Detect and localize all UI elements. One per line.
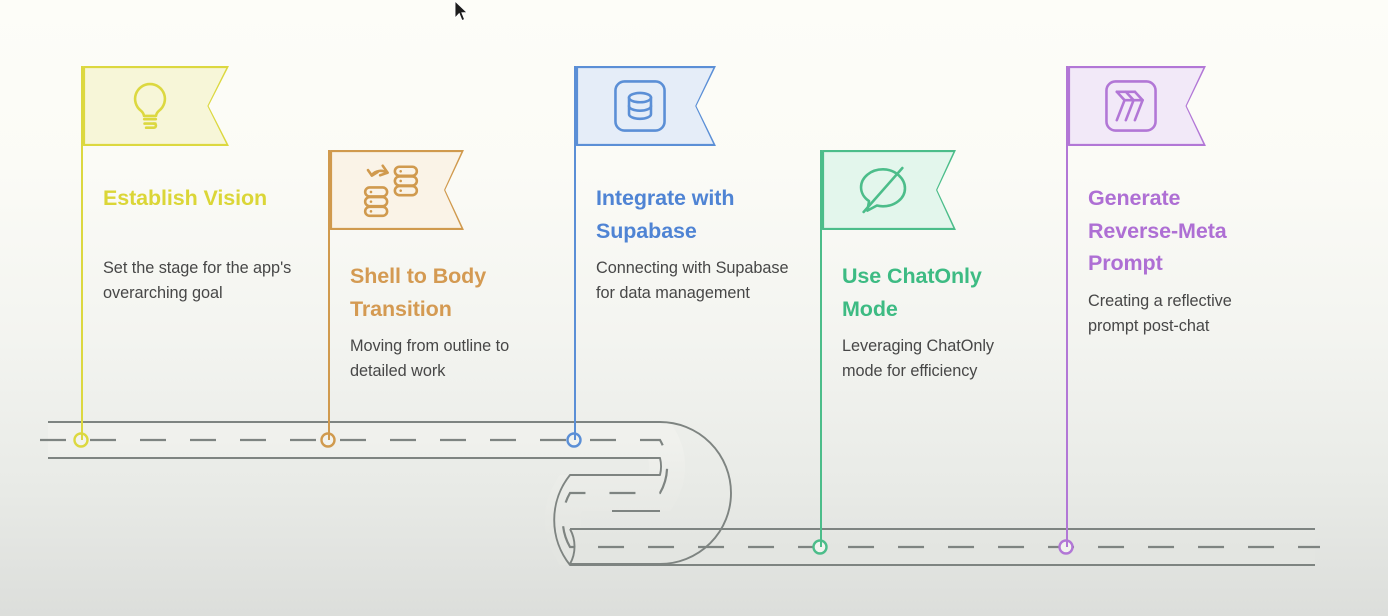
milestone-description: Leveraging ChatOnly mode for efficiency bbox=[842, 334, 1030, 385]
milestone-description: Connecting with Supabase for data manage… bbox=[596, 256, 790, 307]
milestone-title: Generate Reverse-Meta Prompt bbox=[1088, 182, 1268, 280]
chat-bubble-slash-icon bbox=[852, 159, 914, 221]
lightbulb-icon bbox=[119, 75, 181, 137]
milestone-pole bbox=[328, 150, 330, 440]
milestone-title: Shell to Body Transition bbox=[350, 260, 526, 325]
triple-chevron-icon bbox=[1100, 75, 1162, 137]
lightbulb-icon bbox=[119, 75, 181, 137]
triple-chevron-icon bbox=[1100, 75, 1162, 137]
milestone-title: Integrate with Supabase bbox=[596, 182, 778, 247]
milestone-pole bbox=[574, 66, 576, 440]
milestone-description: Creating a reflective prompt post-chat bbox=[1088, 289, 1280, 340]
database-icon bbox=[609, 75, 671, 137]
milestone-description: Set the stage for the app's overarching … bbox=[103, 256, 303, 307]
database-transfer-icon bbox=[360, 159, 422, 221]
road-surface bbox=[48, 440, 1315, 547]
milestone-title: Establish Vision bbox=[103, 182, 291, 215]
database-icon bbox=[609, 75, 671, 137]
milestone-pole bbox=[820, 150, 822, 547]
roadmap-canvas: Establish VisionSet the stage for the ap… bbox=[0, 0, 1388, 616]
milestone-description: Moving from outline to detailed work bbox=[350, 334, 538, 385]
milestone-pole bbox=[81, 66, 83, 440]
milestone-pole bbox=[1066, 66, 1068, 547]
milestone-flag[interactable] bbox=[83, 66, 229, 146]
milestone-flag[interactable] bbox=[822, 150, 956, 230]
milestone-flag[interactable] bbox=[1068, 66, 1206, 146]
milestone-flag[interactable] bbox=[576, 66, 716, 146]
milestone-title: Use ChatOnly Mode bbox=[842, 260, 1018, 325]
milestone-flag[interactable] bbox=[330, 150, 464, 230]
database-transfer-icon bbox=[360, 159, 422, 221]
chat-bubble-slash-icon bbox=[852, 159, 914, 221]
